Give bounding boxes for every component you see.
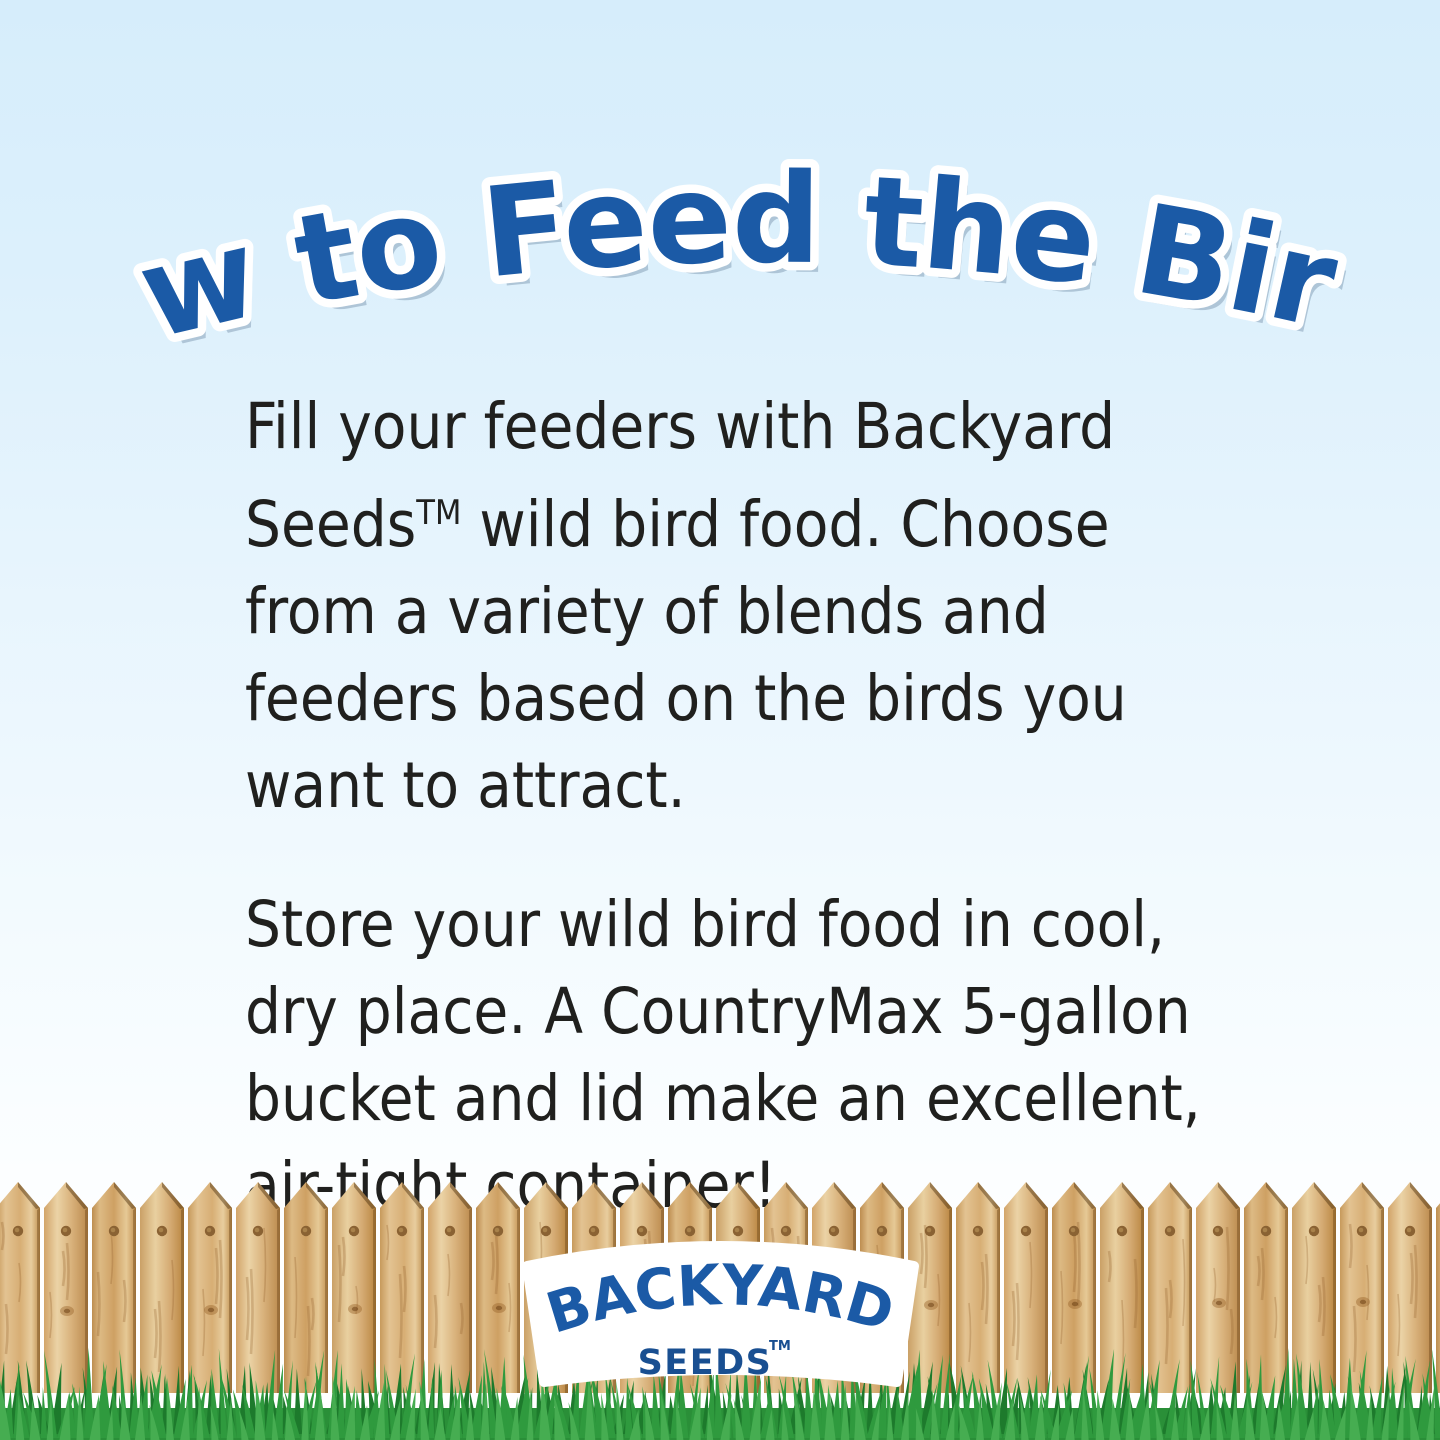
- title-shadow-layer: How to Feed the Birds: [0, 4, 1356, 378]
- title-fill-layer: How to Feed the Birds: [0, 4, 1348, 368]
- brand-logo: BACKYARD BACKYARD SEEDS TM: [493, 1232, 948, 1392]
- page-title: How to Feed the Birds How to Feed the Bi…: [0, 118, 1440, 328]
- logo-subtitle: SEEDS: [638, 1343, 773, 1383]
- body-copy: Fill your feeders with Backyard SeedsTM …: [245, 383, 1255, 1229]
- trademark-symbol: TM: [416, 493, 461, 533]
- title-fill-text: How to Feed the Birds: [0, 4, 1348, 368]
- paragraph-fill-feeders: Fill your feeders with Backyard SeedsTM …: [245, 383, 1255, 829]
- title-outline-layer: How to Feed the Birds: [0, 4, 1348, 368]
- title-outline-text: How to Feed the Birds: [0, 4, 1348, 368]
- paragraph-storage: Store your wild bird food in cool, dry p…: [245, 881, 1255, 1229]
- title-artwork: How to Feed the Birds How to Feed the Bi…: [0, 118, 1440, 328]
- logo-trademark: TM: [769, 1339, 791, 1354]
- poster-canvas: How to Feed the Birds How to Feed the Bi…: [0, 0, 1440, 1440]
- title-shadow-text: How to Feed the Birds: [0, 4, 1356, 378]
- logo-artwork: BACKYARD BACKYARD SEEDS TM: [493, 1232, 948, 1392]
